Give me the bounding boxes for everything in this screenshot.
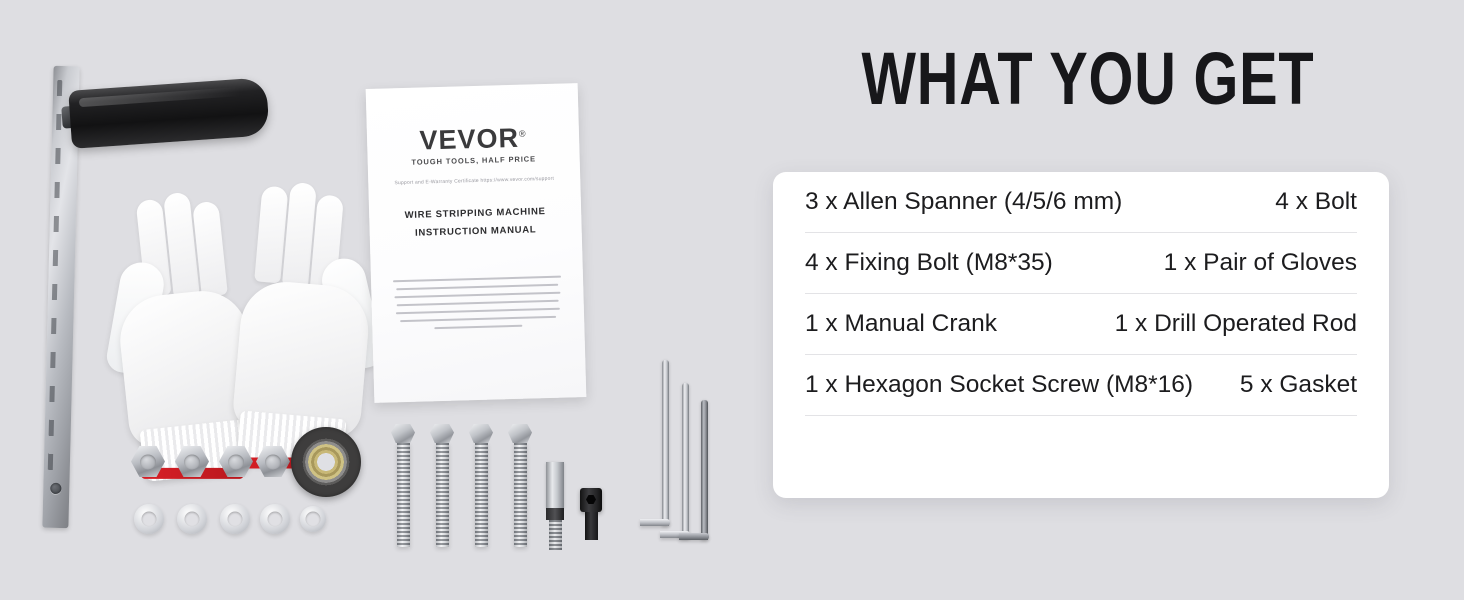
contents-item-right: 1 x Pair of Gloves (1164, 249, 1357, 277)
socket-screw-head (580, 488, 602, 512)
page-title: WHAT YOU GET (832, 36, 1344, 121)
contents-row: 1 x Manual Crank 1 x Drill Operated Rod (805, 294, 1357, 354)
contents-row: 4 x Fixing Bolt (M8*35) 1 x Pair of Glov… (805, 233, 1357, 293)
instruction-manual-sheet: VEVOR® TOUGH TOOLS, HALF PRICE Support a… (366, 83, 587, 403)
rod-black-band (546, 508, 564, 520)
gasket (134, 504, 164, 534)
contents-item-right: 4 x Bolt (1275, 188, 1357, 216)
drill-operated-rod (546, 462, 564, 550)
contents-row: 1 x Hexagon Socket Screw (M8*16) 5 x Gas… (805, 355, 1357, 415)
contents-item-left: 1 x Manual Crank (805, 310, 1011, 338)
rod-threaded-end (549, 520, 562, 550)
bolt-shaft (514, 443, 527, 547)
gasket (300, 506, 326, 532)
bolt-head (430, 424, 454, 443)
contents-card: 3 x Allen Spanner (4/5/6 mm) 4 x Bolt 4 … (773, 172, 1389, 498)
pair-of-gloves (118, 168, 386, 444)
bolt-shaft (397, 443, 410, 547)
gasket (220, 504, 250, 534)
manual-paragraph-placeholder (393, 276, 562, 337)
vevor-logo: VEVOR® (367, 121, 580, 158)
contents-item-right: 5 x Gasket (1240, 371, 1357, 399)
socket-screw-shaft (585, 512, 598, 540)
contents-item-right: 1 x Drill Operated Rod (1115, 310, 1357, 338)
hexagon-socket-screw (580, 488, 602, 540)
rod-hex-shaft (546, 462, 564, 508)
bolt-shaft (436, 443, 449, 547)
gasket (177, 504, 207, 534)
allen-vertical-arm (701, 400, 708, 540)
fixing-bolt (391, 424, 415, 547)
contents-item-left: 1 x Hexagon Socket Screw (M8*16) (805, 371, 1207, 399)
support-line: Support and E-Warranty Certificate https… (368, 175, 580, 187)
manual-title-line-2: INSTRUCTION MANUAL (370, 223, 582, 240)
infographic-stage: VEVOR® TOUGH TOOLS, HALF PRICE Support a… (0, 0, 1464, 600)
manual-title-line-1: WIRE STRIPPING MACHINE (369, 205, 581, 222)
allen-spanner (679, 400, 751, 540)
right-panel: WHAT YOU GET 3 x Allen Spanner (4/5/6 mm… (760, 0, 1464, 600)
contents-item-left: 4 x Fixing Bolt (M8*35) (805, 249, 1067, 277)
gasket (260, 504, 290, 534)
bearing (291, 427, 361, 497)
fixing-bolt (508, 424, 532, 547)
fixing-bolt (430, 424, 454, 547)
row-divider (805, 415, 1357, 416)
contents-row: 3 x Allen Spanner (4/5/6 mm) 4 x Bolt (805, 172, 1357, 232)
registered-mark: ® (519, 129, 527, 139)
vevor-logo-text: VEVOR (419, 123, 519, 156)
fixing-bolt (469, 424, 493, 547)
allen-short-arm (679, 533, 709, 540)
bolt-head (469, 424, 493, 443)
bolt-head (508, 424, 532, 443)
product-parts-photo: VEVOR® TOUGH TOOLS, HALF PRICE Support a… (0, 0, 760, 600)
bolt-shaft (475, 443, 488, 547)
bolt-head (391, 424, 415, 443)
contents-item-left: 3 x Allen Spanner (4/5/6 mm) (805, 188, 1136, 216)
crank-grip (68, 77, 270, 149)
crank-bar-hole (50, 483, 61, 494)
